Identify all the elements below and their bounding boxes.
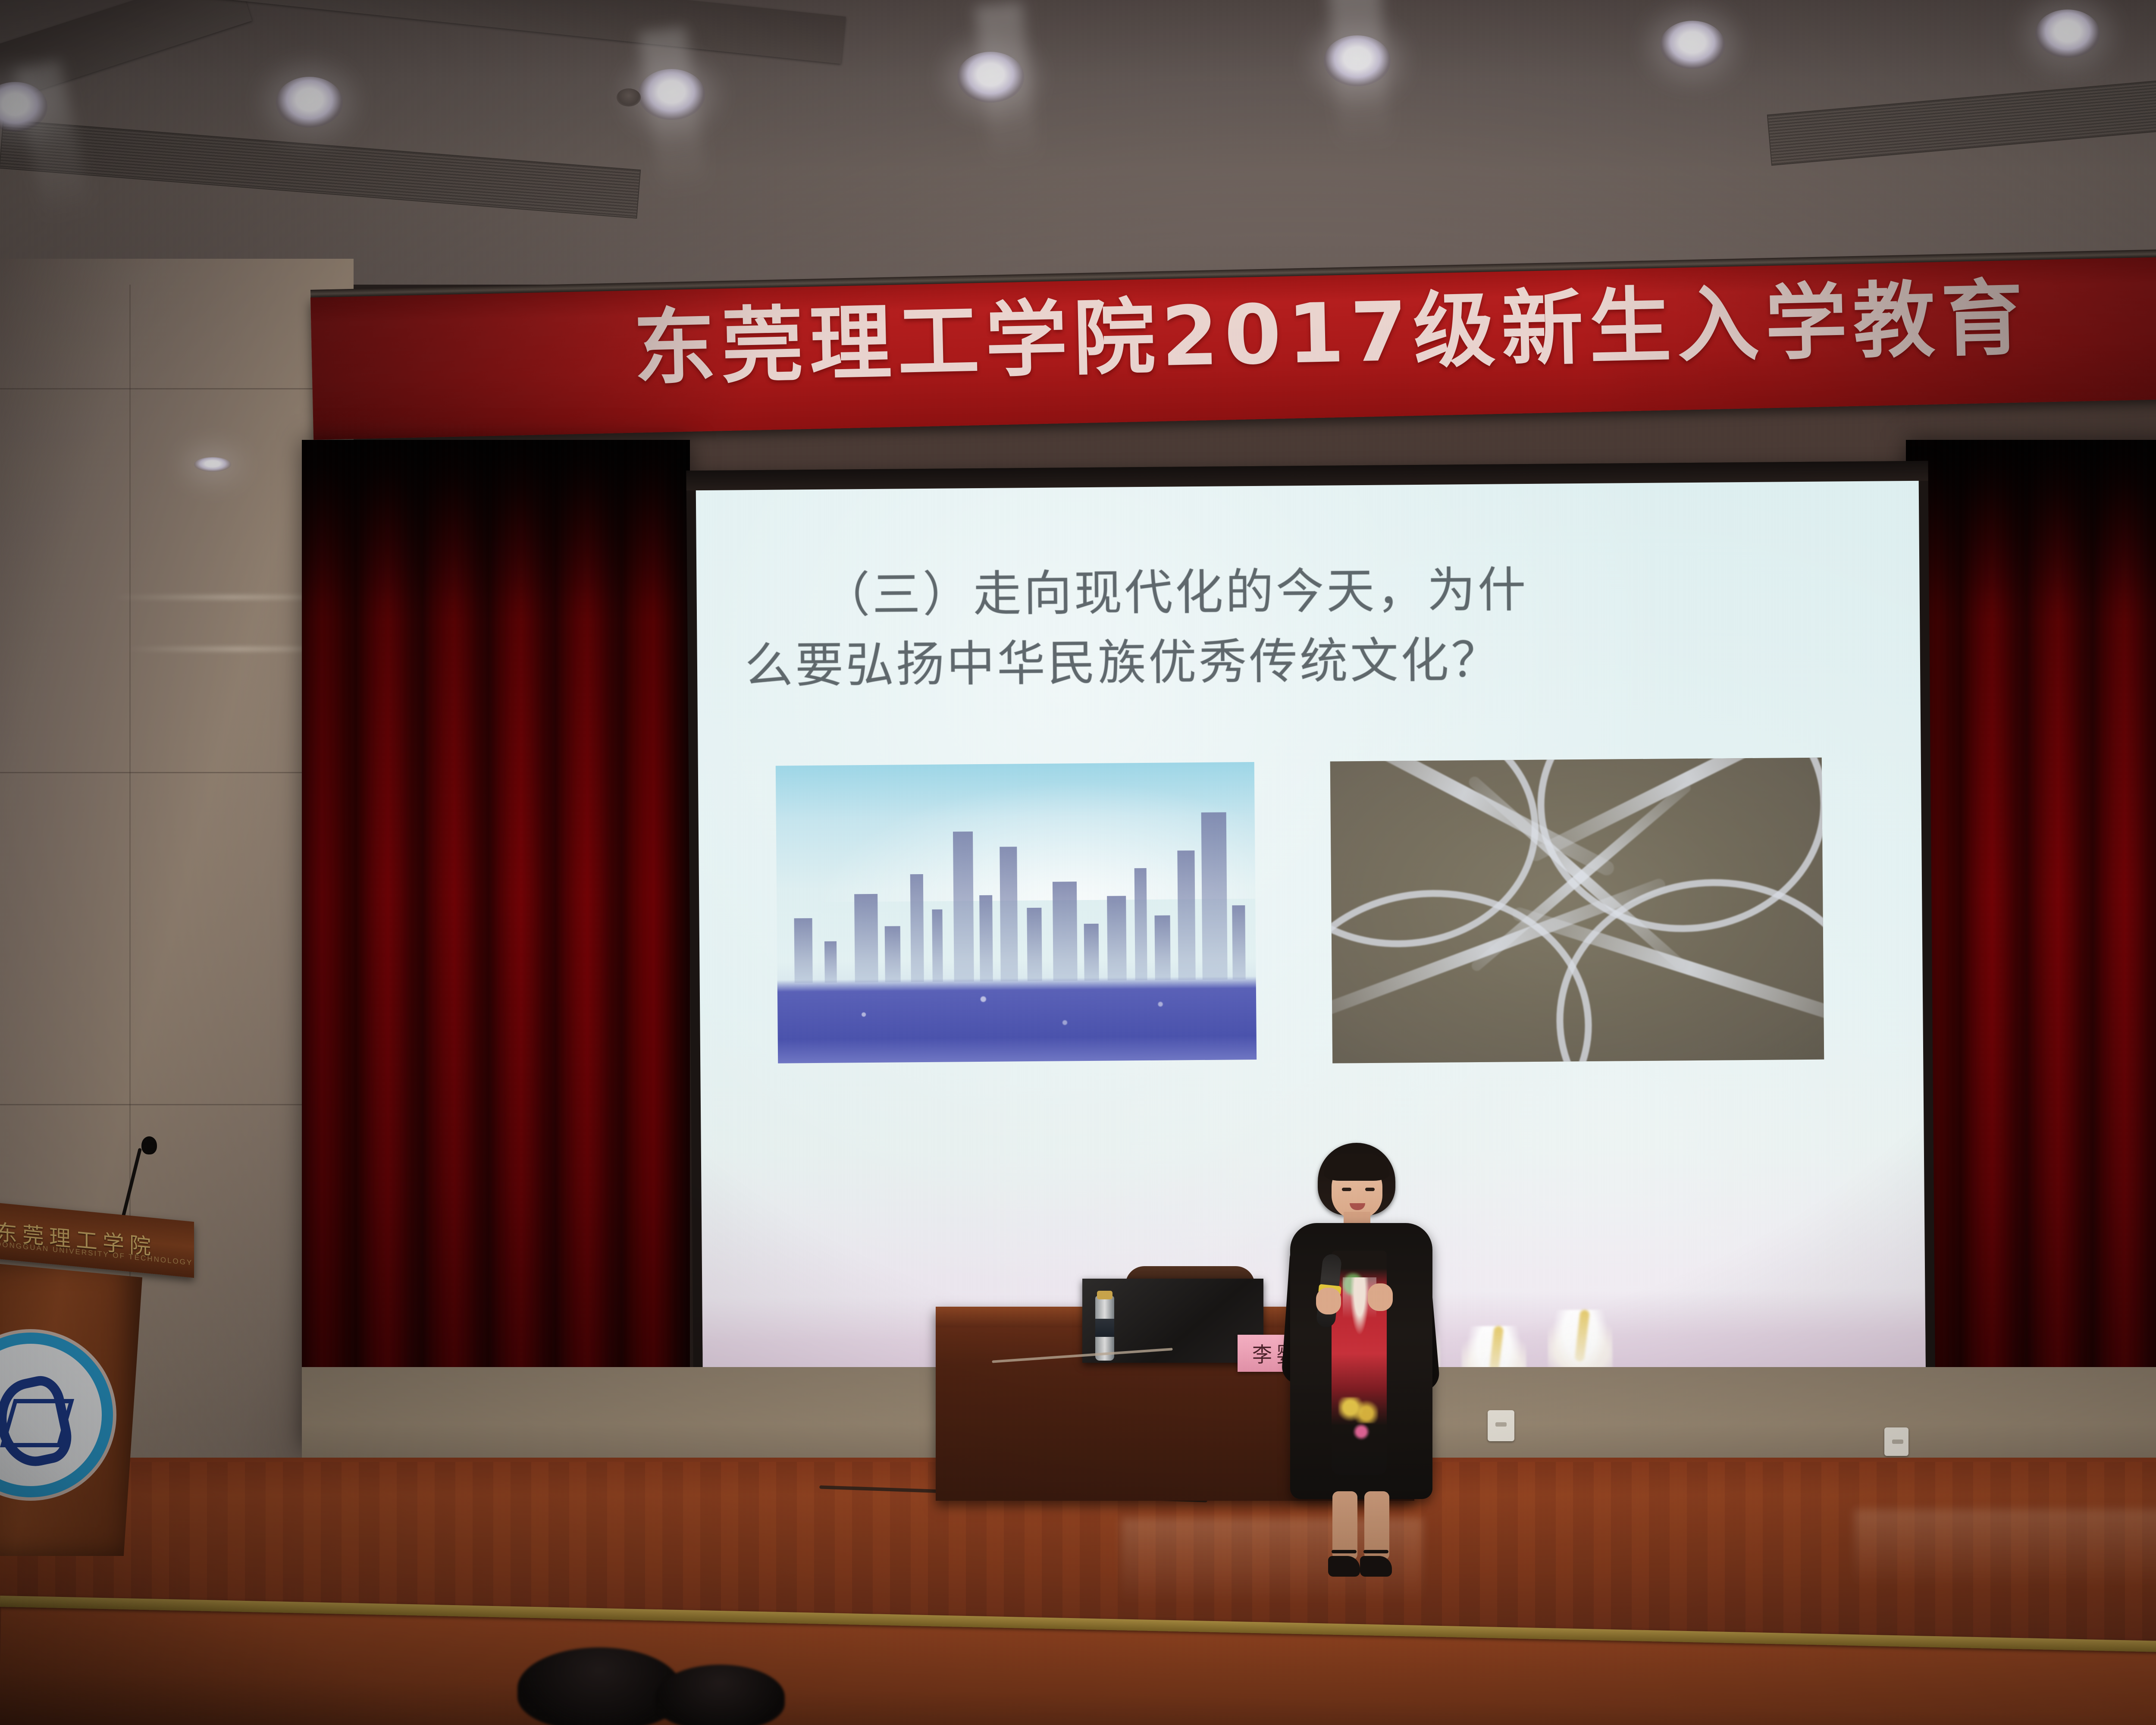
- presenter-bangs: [1324, 1154, 1389, 1181]
- ceiling-spotlight: [1660, 21, 1725, 69]
- ceiling-downlight-off: [617, 88, 641, 107]
- water-sparkle: [777, 979, 1257, 1063]
- ceiling-spotlight: [638, 69, 705, 120]
- lectern-podium[interactable]: 东莞理工学院 DONGGUAN UNIVERSITY OF TECHNOLOGY: [0, 1212, 194, 1548]
- wall-power-outlet: [1884, 1427, 1908, 1456]
- audience-head: [655, 1665, 785, 1725]
- curtain-shadow-left: [302, 440, 690, 621]
- audience-head: [517, 1647, 681, 1725]
- presenter-person: [1268, 1143, 1449, 1583]
- slide-heading-line-2: 么要弘扬中华民族优秀传统文化？: [744, 622, 1881, 701]
- slide-heading-line-1: （三）走向现代化的今天，为什: [744, 552, 1881, 631]
- city-skyline-photo: [776, 762, 1257, 1063]
- curtain-shadow-right: [1906, 440, 2156, 621]
- ceiling-spotlight: [2035, 9, 2100, 58]
- podium-top-surface: 东莞理工学院 DONGGUAN UNIVERSITY OF TECHNOLOGY: [0, 1202, 194, 1278]
- bottle-label: [1095, 1319, 1114, 1337]
- presenter-right-shoe: [1360, 1556, 1392, 1577]
- presenter-left-hand: [1316, 1288, 1341, 1314]
- ceiling-spotlight: [1324, 35, 1391, 86]
- slide-heading: （三）走向现代化的今天，为什 么要弘扬中华民族优秀传统文化？: [744, 552, 1881, 701]
- wall-downlight-left: [194, 457, 231, 472]
- microphone-icon: [141, 1136, 157, 1154]
- wall-power-outlet: [1488, 1410, 1514, 1441]
- auditorium-scene: 东莞理工学院2017级新生入学教育 （三）走向现代化的今天，为什 么要弘扬中华民…: [0, 0, 2156, 1725]
- ceiling-spotlight: [957, 52, 1024, 103]
- bottle-cap: [1097, 1291, 1112, 1299]
- highway-interchange-photo: [1330, 758, 1824, 1063]
- floor-reflection: [1854, 1509, 2156, 1587]
- presenter-right-hand: [1368, 1283, 1393, 1311]
- slide-image-row: [776, 758, 1826, 1068]
- presenter-left-shoe: [1328, 1556, 1360, 1577]
- ceiling-spotlight: [276, 77, 343, 128]
